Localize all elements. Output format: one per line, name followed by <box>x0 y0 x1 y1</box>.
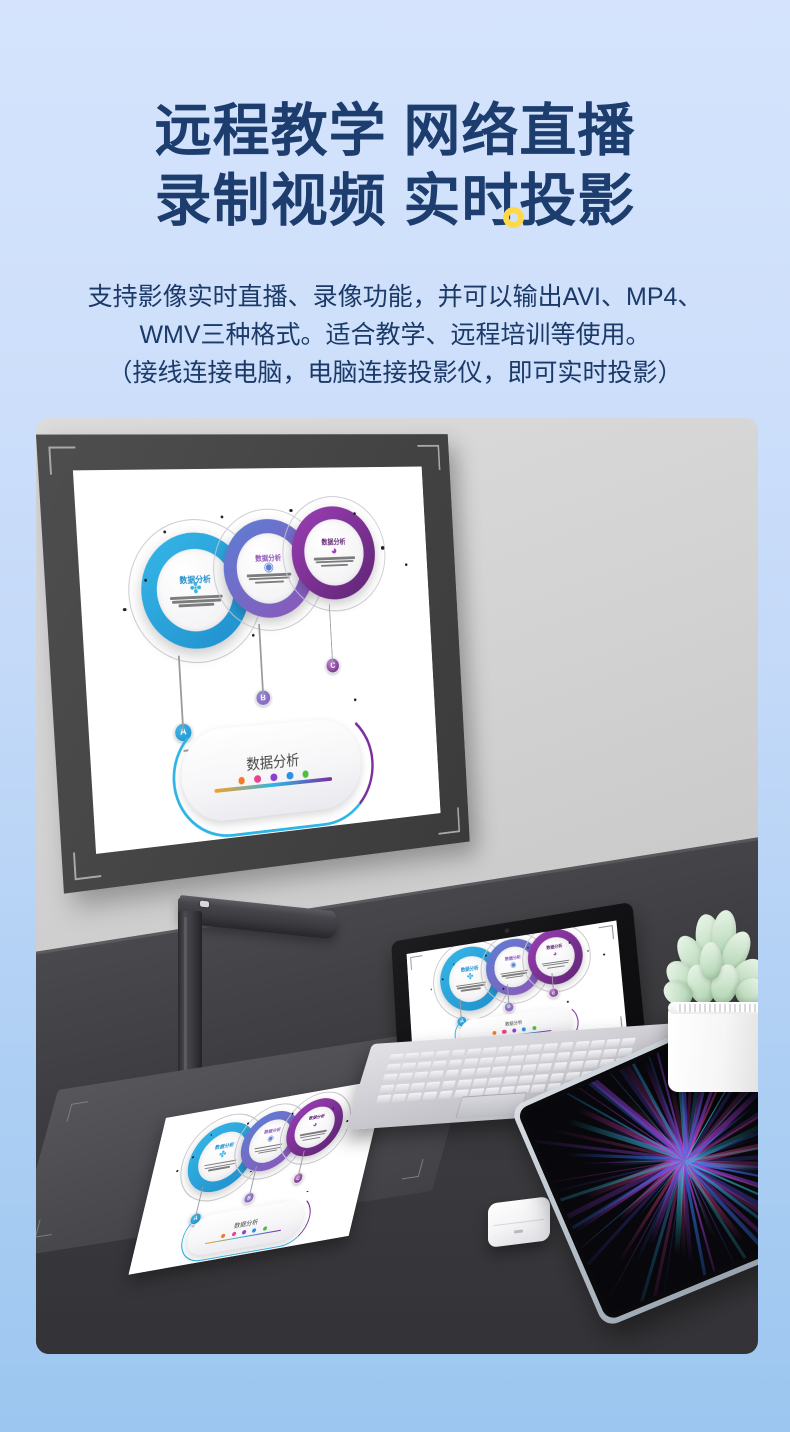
projection-screen-frame: 数据分析✤A数据分析◉B数据分析◕C数据分析 <box>36 434 470 894</box>
infographic-ring-text-lines <box>203 1158 238 1174</box>
laptop-key[interactable] <box>385 1064 401 1073</box>
laptop-key[interactable] <box>549 1072 565 1081</box>
projection-screen: 数据分析✤A数据分析◉B数据分析◕C数据分析 <box>36 434 470 894</box>
infographic-node-c: C <box>548 987 559 999</box>
infographic-dot <box>381 546 384 549</box>
infographic-ring-text-lines <box>298 1129 327 1143</box>
subcopy-line-2: WMV三种格式。适合教学、远程培训等使用。 <box>0 316 790 354</box>
laptop-key[interactable] <box>463 1058 479 1067</box>
laptop-key[interactable] <box>552 1062 568 1071</box>
infographic-ring-text-lines <box>170 594 224 609</box>
laptop-key[interactable] <box>394 1083 410 1092</box>
laptop-key[interactable] <box>382 1074 398 1083</box>
laptop-key[interactable] <box>481 1047 497 1056</box>
laptop-key[interactable] <box>521 1064 537 1073</box>
frame-corner-br-icon <box>437 807 460 834</box>
laptop-key[interactable] <box>416 1062 432 1071</box>
laptop-key[interactable] <box>589 1040 605 1049</box>
laptop-key[interactable] <box>518 1075 534 1084</box>
infographic-ring-glyph-icon: ◉ <box>266 1133 274 1142</box>
laptop-key[interactable] <box>568 1061 584 1070</box>
infographic-connector <box>178 656 184 732</box>
infographic-dot <box>220 515 223 518</box>
laptop-key[interactable] <box>497 1046 513 1055</box>
laptop-key[interactable] <box>506 1065 522 1074</box>
infographic-dot <box>144 578 147 581</box>
laptop-key[interactable] <box>620 1038 636 1047</box>
infographic-connector <box>258 624 264 697</box>
laptop-corner-tr-icon <box>599 925 614 941</box>
laptop-key[interactable] <box>540 1053 556 1062</box>
laptop-key[interactable] <box>441 1080 457 1089</box>
product-scene-photo: 数据分析✤A数据分析◉B数据分析◕C数据分析 数据分析✤A数据分析◉B数据分析◕… <box>36 418 758 1354</box>
laptop-key[interactable] <box>478 1057 494 1066</box>
yellow-ring-accent-icon <box>503 207 524 228</box>
laptop-key[interactable] <box>404 1052 420 1061</box>
laptop-corner-tl-icon <box>410 955 423 970</box>
laptop-key[interactable] <box>419 1051 435 1060</box>
laptop-key[interactable] <box>558 1042 574 1051</box>
laptop-key[interactable] <box>605 1039 621 1048</box>
laptop-key[interactable] <box>456 1079 472 1088</box>
laptop-key[interactable] <box>432 1061 448 1070</box>
infographic-dot <box>568 942 570 944</box>
laptop-key[interactable] <box>422 1091 438 1100</box>
laptop-key[interactable] <box>537 1063 553 1072</box>
laptop-key[interactable] <box>425 1081 441 1090</box>
infographic-pill-title: 数据分析 <box>505 1019 523 1027</box>
subcopy-line-1: 支持影像实时直播、录像功能，并可以输出AVI、MP4、 <box>0 278 790 316</box>
subcopy: 支持影像实时直播、录像功能，并可以输出AVI、MP4、 WMV三种格式。适合教学… <box>0 278 790 392</box>
infographic-ring-text-lines <box>314 555 355 568</box>
laptop-key[interactable] <box>376 1094 392 1103</box>
infographic-ring-glyph-icon: ✤ <box>218 1150 227 1160</box>
mat-corner-br-icon <box>402 1159 424 1179</box>
infographic-dot <box>405 563 408 566</box>
subcopy-line-3: （接线连接电脑，电脑连接投影仪，即可实时投影） <box>0 354 790 392</box>
laptop-key[interactable] <box>379 1084 395 1093</box>
infographic-ring-glyph-icon: ◕ <box>331 547 338 555</box>
laptop-key[interactable] <box>543 1043 559 1052</box>
headline-line-2: 录制视频 实时投影 <box>0 166 790 236</box>
laptop-key[interactable] <box>413 1072 429 1081</box>
laptop-key[interactable] <box>493 1056 509 1065</box>
infographic-ring-glyph-icon: ◕ <box>552 950 557 958</box>
mat-corner-tl-icon <box>67 1101 89 1121</box>
laptop-key[interactable] <box>555 1052 571 1061</box>
laptop-key[interactable] <box>447 1060 463 1069</box>
laptop-key[interactable] <box>487 1077 503 1086</box>
infographic-ring-glyph-icon: ✤ <box>467 972 474 981</box>
infographic-ring-inner: 数据分析◕ <box>302 519 365 587</box>
infographic-dot <box>502 988 504 990</box>
infographic-dot <box>123 608 126 611</box>
infographic-ring-glyph-icon: ✤ <box>190 585 202 593</box>
headline-line-1: 远程教学 网络直播 <box>0 96 790 166</box>
laptop-key[interactable] <box>512 1045 528 1054</box>
laptop-key[interactable] <box>410 1082 426 1091</box>
infographic-ring-text-lines <box>542 958 569 971</box>
header-section: 远程教学 网络直播 录制视频 实时投影 支持影像实时直播、录像功能，并可以输出A… <box>0 0 790 418</box>
page-title: 远程教学 网络直播 录制视频 实时投影 <box>0 96 790 236</box>
infographic-dot <box>354 698 357 701</box>
laptop-key[interactable] <box>407 1092 423 1101</box>
laptop-key[interactable] <box>435 1050 451 1059</box>
laptop-key[interactable] <box>602 1049 618 1058</box>
projection-screen-canvas: 数据分析✤A数据分析◉B数据分析◕C数据分析 <box>73 467 441 854</box>
earbuds-case[interactable] <box>488 1200 550 1244</box>
laptop-key[interactable] <box>490 1067 506 1076</box>
laptop-key[interactable] <box>534 1074 550 1083</box>
infographic-ring-glyph-icon: ◕ <box>312 1120 318 1129</box>
laptop-key[interactable] <box>429 1071 445 1080</box>
laptop-key[interactable] <box>571 1051 587 1060</box>
plant-gravel <box>676 1004 758 1012</box>
laptop-key[interactable] <box>401 1063 417 1072</box>
laptop-key[interactable] <box>503 1076 519 1085</box>
laptop-key[interactable] <box>438 1090 454 1099</box>
infographic-dot <box>176 1170 178 1172</box>
laptop-key[interactable] <box>583 1060 599 1069</box>
infographic-projected: 数据分析✤A数据分析◉B数据分析◕C数据分析 <box>73 467 441 854</box>
infographic-dot <box>603 953 605 955</box>
infographic-dot <box>306 1190 308 1192</box>
infographic-dot <box>567 1001 569 1003</box>
infographic-dot <box>430 988 432 990</box>
infographic-dot <box>290 509 293 512</box>
plant-pot <box>668 1006 758 1092</box>
laptop-key[interactable] <box>574 1041 590 1050</box>
laptop-key[interactable] <box>509 1055 525 1064</box>
laptop-key[interactable] <box>466 1048 482 1057</box>
infographic-ring-text-lines <box>247 572 291 585</box>
infographic-dot <box>252 633 255 636</box>
infographic-pill-title: 数据分析 <box>246 749 300 775</box>
laptop-webcam-icon <box>504 928 509 933</box>
laptop-key[interactable] <box>444 1070 460 1079</box>
infographic-connector <box>329 604 334 664</box>
scanner-camera-lens-icon <box>200 901 209 908</box>
laptop-key[interactable] <box>475 1068 491 1077</box>
laptop-key[interactable] <box>586 1050 602 1059</box>
mat-corner-bl-icon <box>36 1217 57 1237</box>
laptop-key[interactable] <box>527 1044 543 1053</box>
infographic-dot <box>353 512 356 515</box>
succulent-leaf <box>700 942 722 980</box>
laptop-key[interactable] <box>450 1049 466 1058</box>
succulent-plant <box>650 908 758 1108</box>
laptop-key[interactable] <box>459 1069 475 1078</box>
laptop-key[interactable] <box>391 1093 407 1102</box>
laptop-key[interactable] <box>530 1084 546 1093</box>
laptop-key[interactable] <box>472 1078 488 1087</box>
laptop-key[interactable] <box>524 1054 540 1063</box>
infographic-ring-glyph-icon: ◉ <box>510 960 517 969</box>
laptop-key[interactable] <box>388 1054 404 1063</box>
frame-corner-bl-icon <box>73 850 101 881</box>
laptop-key[interactable] <box>398 1073 414 1082</box>
infographic-ring-glyph-icon: ◉ <box>263 563 274 571</box>
